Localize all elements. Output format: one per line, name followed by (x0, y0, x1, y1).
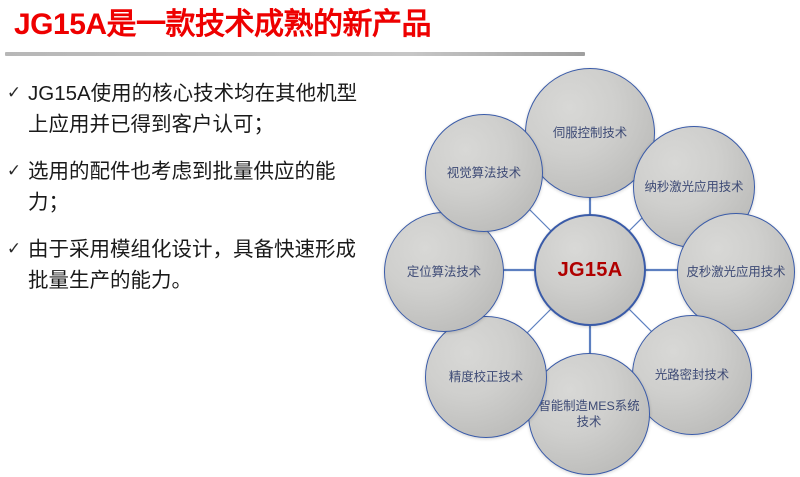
diagram-node-accuracy[interactable]: 精度校正技术 (425, 316, 547, 438)
diagram-center-label: JG15A (558, 259, 623, 282)
check-icon: ✓ (0, 156, 28, 187)
diagram-node-vision[interactable]: 视觉算法技术 (425, 114, 543, 232)
diagram-node-label: 智能制造MES系统技术 (529, 398, 649, 431)
diagram-node-label: 视觉算法技术 (441, 165, 527, 182)
check-icon: ✓ (0, 78, 28, 109)
list-item: ✓ JG15A使用的核心技术均在其他机型上应用并已得到客户认可； (0, 78, 390, 140)
diagram-node-label: 定位算法技术 (401, 264, 487, 281)
title-block: JG15A是一款技术成熟的新产品 (14, 2, 594, 52)
slide-canvas: JG15A是一款技术成熟的新产品 ✓ JG15A使用的核心技术均在其他机型上应用… (0, 0, 800, 477)
diagram-node-label: 光路密封技术 (649, 367, 735, 384)
diagram-center-node[interactable]: JG15A (534, 214, 646, 326)
diagram-node-label: 纳秒激光应用技术 (638, 179, 749, 196)
list-item: ✓ 由于采用模组化设计，具备快速形成批量生产的能力。 (0, 234, 390, 296)
diagram-node-seal[interactable]: 光路密封技术 (632, 315, 752, 435)
check-icon: ✓ (0, 234, 28, 265)
bullet-list: ✓ JG15A使用的核心技术均在其他机型上应用并已得到客户认可； ✓ 选用的配件… (0, 78, 390, 312)
diagram-node-label: 皮秒激光应用技术 (680, 264, 791, 281)
radial-diagram: 伺服控制技术 纳秒激光应用技术 皮秒激光应用技术 光路密封技术 智能制造MES系… (370, 50, 800, 477)
bullet-text: 由于采用模组化设计，具备快速形成批量生产的能力。 (28, 234, 368, 296)
bullet-text: 选用的配件也考虑到批量供应的能力； (28, 156, 368, 218)
list-item: ✓ 选用的配件也考虑到批量供应的能力； (0, 156, 390, 218)
diagram-node-label: 精度校正技术 (443, 369, 529, 386)
diagram-node-label: 伺服控制技术 (547, 125, 633, 142)
bullet-text: JG15A使用的核心技术均在其他机型上应用并已得到客户认可； (28, 78, 368, 140)
page-title: JG15A是一款技术成熟的新产品 (14, 2, 594, 48)
diagram-node-pico[interactable]: 皮秒激光应用技术 (677, 213, 795, 331)
